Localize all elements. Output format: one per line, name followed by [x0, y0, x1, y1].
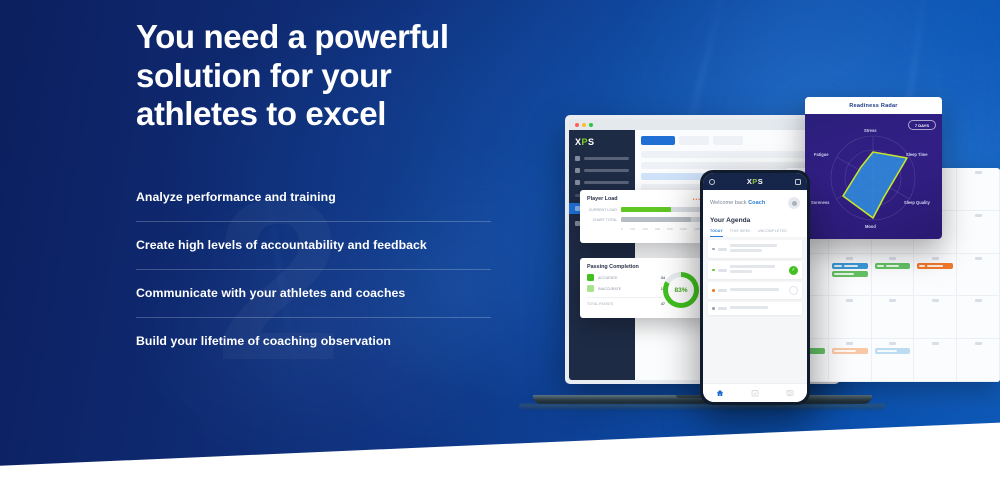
status-dot	[712, 307, 715, 310]
toolbar	[641, 136, 830, 145]
time-label	[718, 269, 727, 272]
calendar-cell[interactable]	[872, 339, 915, 382]
section-title: Your Agenda	[703, 215, 807, 224]
radar-axis-label-soreness: Soreness	[811, 200, 829, 205]
axis-tick: 800	[667, 227, 672, 231]
minimize-icon[interactable]	[582, 123, 586, 127]
event-chip[interactable]	[832, 348, 868, 354]
tab-this-week[interactable]: THIS WEEK	[730, 229, 751, 237]
bar-label: CURRENT LOAD	[587, 208, 617, 212]
bar-row: CURRENT LOAD	[587, 207, 701, 212]
bar-track	[621, 207, 701, 212]
phone-bottom-nav	[703, 383, 807, 402]
item-text	[730, 244, 799, 254]
app-logo: XPS	[747, 177, 763, 186]
time-label	[718, 289, 727, 292]
list-item[interactable]	[708, 302, 802, 315]
window-titlebar	[569, 119, 836, 130]
legend-row: ACCURATE 34	[587, 274, 665, 281]
secondary-button[interactable]	[679, 136, 709, 145]
bar-fill	[621, 217, 691, 222]
calendar-cell[interactable]	[957, 254, 1000, 297]
calendar-cell[interactable]	[914, 254, 957, 297]
news-icon[interactable]	[786, 389, 794, 397]
total-value: 47	[661, 302, 665, 306]
list-item[interactable]: ✓	[708, 261, 802, 279]
message-icon[interactable]	[795, 179, 801, 185]
calendar-cell[interactable]	[914, 339, 957, 382]
axis-tick: 0	[621, 227, 623, 231]
event-chip[interactable]	[832, 263, 868, 269]
legend-total-row: TOTAL PASSES 47	[587, 297, 665, 306]
list-item: Analyze performance and training	[136, 174, 491, 222]
axis-tick: 600	[655, 227, 660, 231]
menu-icon	[575, 180, 580, 185]
sidebar-item[interactable]	[575, 180, 629, 185]
device-mockup-cluster: XPS	[540, 80, 1000, 430]
event-chip[interactable]	[875, 348, 911, 354]
date-label	[932, 342, 939, 345]
item-text	[730, 288, 787, 293]
date-label	[975, 171, 982, 174]
date-label	[846, 299, 853, 302]
axis-tick: 200	[630, 227, 635, 231]
hero-banner: 2 You need a powerful solution for your …	[0, 0, 1000, 500]
calendar-cell[interactable]	[829, 339, 872, 382]
axis-tick: 1000	[680, 227, 687, 231]
card-title: Passing Completion	[587, 264, 701, 270]
legend-swatch	[587, 285, 594, 292]
bar-axis: 0 200 400 600 800 1000 1200	[621, 227, 701, 231]
welcome-user: Coach	[748, 200, 765, 206]
event-chip[interactable]	[832, 271, 868, 277]
item-text	[730, 306, 799, 311]
donut-center: 83%	[668, 277, 694, 303]
phone-screen: XPS Welcome back Coach Your Agenda TODAY…	[703, 173, 807, 402]
radar-axis-label-mood: Mood	[865, 224, 876, 229]
sidebar-item-label	[584, 157, 629, 160]
list-item[interactable]	[708, 282, 802, 299]
phone-content: Welcome back Coach Your Agenda TODAY THI…	[703, 190, 807, 383]
radar-axis-label-sleep-quality: Sleep Quality	[904, 200, 930, 205]
feature-list: Analyze performance and training Create …	[136, 174, 491, 365]
sidebar-item[interactable]	[575, 168, 629, 173]
feature-label: Analyze performance and training	[136, 174, 491, 221]
check-icon: ✓	[789, 266, 798, 275]
date-label	[975, 299, 982, 302]
calendar-cell[interactable]	[872, 254, 915, 297]
status-dot	[712, 248, 715, 251]
feature-label: Create high levels of accountability and…	[136, 222, 491, 269]
calendar-cell[interactable]	[957, 339, 1000, 382]
clock-icon	[789, 286, 798, 295]
time-label	[718, 307, 727, 310]
item-text	[730, 265, 787, 275]
hero-copy: You need a powerful solution for your at…	[136, 18, 556, 365]
legend-label: INACCURATE	[598, 287, 657, 291]
radar-chart: 7 DAYS Stress Sl	[805, 114, 942, 239]
welcome-text: Welcome back Coach	[710, 200, 765, 206]
card-title: Player Load	[587, 196, 701, 202]
bar-track	[621, 217, 701, 222]
status-dot	[712, 269, 715, 272]
list-item: Build your lifetime of coaching observat…	[136, 318, 491, 365]
passing-completion-card: Passing Completion ACCURATE 34 INACCURAT…	[580, 258, 708, 318]
date-label	[975, 214, 982, 217]
secondary-button[interactable]	[713, 136, 743, 145]
avatar[interactable]	[788, 197, 800, 209]
legend-label: ACCURATE	[598, 276, 657, 280]
bar-fill	[621, 207, 671, 212]
phone-app-header: XPS	[703, 173, 807, 190]
calendar-cell[interactable]	[829, 254, 872, 297]
app-logo: XPS	[575, 137, 629, 147]
primary-button[interactable]	[641, 136, 675, 145]
radar-series	[843, 152, 907, 218]
bar-label: CHART TOTAL	[587, 218, 617, 222]
readiness-radar-card: Readiness Radar 7 DAYS	[805, 97, 942, 239]
welcome-prefix: Welcome back	[710, 200, 748, 206]
menu-icon	[575, 156, 580, 161]
time-label	[718, 248, 727, 251]
app-sidebar: XPS	[569, 130, 635, 380]
event-chip[interactable]	[875, 263, 911, 269]
welcome-banner: Welcome back Coach	[703, 190, 807, 215]
date-label	[975, 257, 982, 260]
list-item: Create high levels of accountability and…	[136, 222, 491, 270]
close-icon[interactable]	[575, 123, 579, 127]
calendar-cell[interactable]	[957, 296, 1000, 339]
axis-tick: 400	[643, 227, 648, 231]
status-dot	[712, 289, 715, 292]
calendar-cell[interactable]	[872, 296, 915, 339]
sidebar-item[interactable]	[575, 156, 629, 161]
table-row[interactable]	[641, 151, 830, 158]
tab-today[interactable]: TODAY	[710, 229, 723, 237]
legend-value: 34	[661, 276, 665, 280]
phone-mockup: XPS Welcome back Coach Your Agenda TODAY…	[700, 170, 810, 405]
phone-tabs: TODAY THIS WEEK UNCOMPLETED	[703, 224, 807, 237]
menu-icon	[575, 168, 580, 173]
menu-icon[interactable]	[709, 179, 715, 185]
date-label	[889, 299, 896, 302]
date-label	[846, 257, 853, 260]
total-label: TOTAL PASSES	[587, 302, 661, 306]
calendar-cell[interactable]	[957, 168, 1000, 211]
feature-label: Build your lifetime of coaching observat…	[136, 318, 491, 365]
calendar-cell[interactable]	[829, 296, 872, 339]
radar-card-header: Readiness Radar	[805, 97, 942, 114]
calendar-icon[interactable]	[751, 389, 759, 397]
radar-axis-label-stress: Stress	[864, 128, 877, 133]
date-label	[932, 257, 939, 260]
list-item[interactable]	[708, 240, 802, 258]
radar-axis-label-sleep-time: Sleep Time	[906, 152, 928, 157]
maximize-icon[interactable]	[589, 123, 593, 127]
date-label	[846, 342, 853, 345]
event-chip[interactable]	[917, 263, 953, 269]
home-icon[interactable]	[716, 389, 724, 397]
list-item: Communicate with your athletes and coach…	[136, 270, 491, 318]
player-load-card: Player Load ••• CURRENT LOAD CHART TOTAL…	[580, 190, 708, 243]
radar-range-button[interactable]: 7 DAYS	[908, 120, 936, 130]
date-label	[975, 342, 982, 345]
feature-label: Communicate with your athletes and coach…	[136, 270, 491, 317]
date-label	[889, 257, 896, 260]
legend-row: INACCURATE 13	[587, 285, 665, 292]
tab-uncompleted[interactable]: UNCOMPLETED	[758, 229, 787, 237]
legend-swatch	[587, 274, 594, 281]
calendar-cell[interactable]	[914, 296, 957, 339]
radar-title: Readiness Radar	[849, 103, 897, 109]
donut-percent-label: 83%	[674, 287, 687, 294]
bar-row: CHART TOTAL	[587, 217, 701, 222]
laptop-foot	[519, 404, 886, 410]
radar-axis-label-fatigue: Fatigue	[814, 152, 829, 157]
date-label	[932, 299, 939, 302]
date-label	[889, 342, 896, 345]
calendar-cell[interactable]	[957, 211, 1000, 254]
sidebar-item-label	[584, 181, 629, 184]
donut-chart: 83%	[663, 272, 699, 308]
sidebar-item-label	[584, 169, 629, 172]
page-title: You need a powerful solution for your at…	[136, 18, 556, 134]
